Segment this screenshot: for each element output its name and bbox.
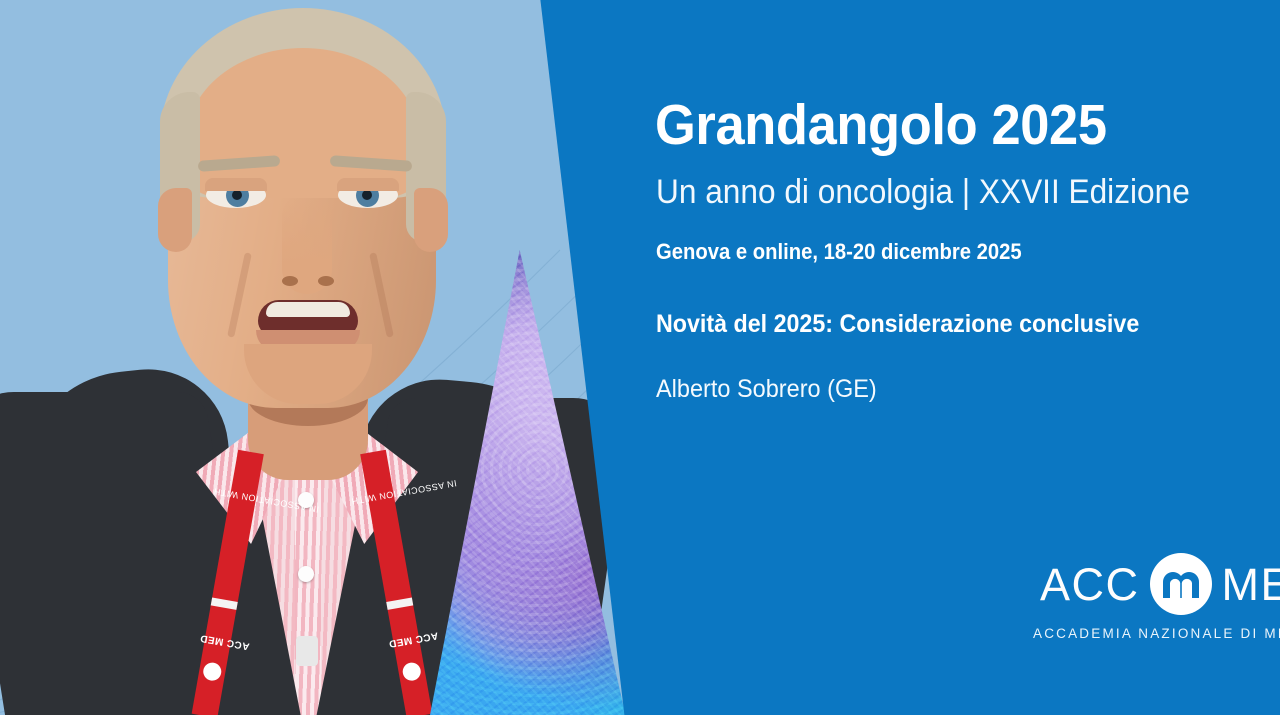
accmed-logo: ACC MED ACCADEMIA NAZIONALE DI MEDICINA [1033, 548, 1280, 658]
nostril-left [282, 276, 298, 286]
eyelid-right [337, 178, 399, 191]
talk-title: Novità del 2025: Considerazione conclusi… [656, 310, 1139, 339]
shirt-button [298, 566, 314, 582]
lanyard-band [386, 597, 413, 609]
event-dateline: Genova e online, 18-20 dicembre 2025 [656, 239, 1022, 265]
speaker-name: Alberto Sobrero (GE) [656, 375, 877, 404]
ear-right [414, 188, 448, 252]
speaker-video-pane: IN ASSOCIATION WITH ACC MED IN ASSOCIATI… [0, 0, 660, 715]
event-title: Grandangolo 2025 [655, 92, 1107, 158]
m-monogram-icon [1150, 553, 1212, 615]
lanyard-logo-mark [401, 661, 422, 682]
lanyard-logo-mark [202, 661, 223, 682]
ear-left [158, 188, 192, 252]
event-subtitle: Un anno di oncologia | XXVII Edizione [656, 173, 1190, 212]
eyelid-left [205, 178, 267, 191]
logo-tagline: ACCADEMIA NAZIONALE DI MEDICINA [1033, 626, 1280, 641]
info-panel: Grandangolo 2025 Un anno di oncologia | … [560, 0, 1280, 715]
badge-clip [296, 636, 318, 666]
lanyard-band [211, 597, 238, 609]
pupil-left [232, 190, 242, 200]
teeth [266, 302, 350, 317]
video-frame: IN ASSOCIATION WITH ACC MED IN ASSOCIATI… [0, 0, 1280, 715]
logo-word-med: MED [1222, 562, 1280, 607]
pupil-right [362, 190, 372, 200]
nostril-right [318, 276, 334, 286]
logo-word-acc: ACC [1040, 562, 1140, 607]
